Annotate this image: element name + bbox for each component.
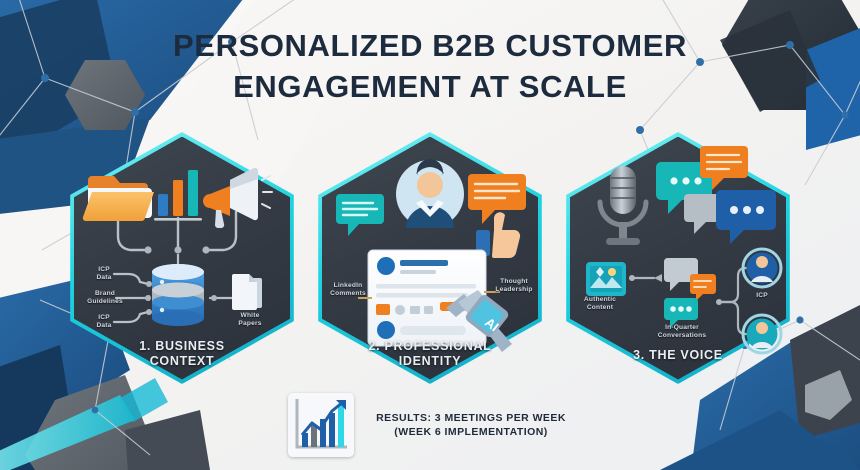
panel-label-line-1: 3. THE VOICE [633,348,723,362]
panel-label-line-1: 1. BUSINESS [139,339,225,353]
document-icon [232,274,262,310]
panel-professional-identity[interactable]: AI LinkedIn Comments Thought Leadership … [318,132,542,384]
caption-linkedin-comments: LinkedIn Comments [320,282,376,298]
caption-icp-data-bottom: ICP Data [84,314,124,330]
caption-brand-guidelines: Brand Guidelines [74,290,136,306]
user-avatar-icon [743,249,781,287]
panel-2-label: 2. PROFESSIONAL IDENTITY [318,339,542,370]
user-avatar-icon [743,315,781,353]
caption-icp-persona: ICP [742,292,782,300]
caption-icp-data-top: ICP Data [84,266,124,282]
caption-line-1: ICP [756,292,768,299]
caption-line-2: Guidelines [87,298,123,305]
results-line-1: RESULTS: 3 MEETINGS PER WEEK [376,412,566,424]
title-line-2: ENGAGEMENT AT SCALE [0,67,860,108]
caption-line-1: In-Quarter [665,324,699,331]
panel-2-content: AI LinkedIn Comments Thought Leadership … [318,132,542,384]
caption-in-quarter-conversations: In-Quarter Conversations [644,324,720,340]
caption-line-2: Data [96,322,111,329]
title-line-1: PERSONALIZED B2B CUSTOMER [173,28,687,63]
page-title: PERSONALIZED B2B CUSTOMER ENGAGEMENT AT … [0,26,860,108]
panel-label-line-2: CONTEXT [150,354,215,368]
database-icon [152,264,204,326]
caption-line-2: Leadership [495,286,532,293]
panel-1-label: 1. BUSINESS CONTEXT [70,339,294,370]
results-text: RESULTS: 3 MEETINGS PER WEEK (WEEK 6 IMP… [364,411,578,439]
caption-line-1: Authentic [584,296,616,303]
chat-cluster-icon [664,258,716,328]
growth-chart-icon [288,393,354,457]
caption-line-1: ICP [98,266,110,273]
results-line-2: (WEEK 6 IMPLEMENTATION) [364,425,578,439]
panel-label-line-2: IDENTITY [399,354,462,368]
caption-line-1: Brand [95,290,115,297]
caption-line-2: Papers [238,320,261,327]
speech-bubble-blue-icon [716,190,776,244]
folder-icon [83,176,154,221]
caption-line-1: ICP [98,314,110,321]
caption-line-2: Content [587,304,613,311]
panel-label-line-1: 2. PROFESSIONAL [368,339,491,353]
caption-white-papers: White Papers [226,312,274,328]
caption-authentic-content: Authentic Content [572,296,628,312]
panel-the-voice[interactable]: Authentic Content In-Quarter Conversatio… [566,132,790,384]
caption-line-2: Conversations [658,332,706,339]
caption-line-1: White [241,312,260,319]
bar-chart-icon [154,170,202,221]
speech-bubble-teal-icon [336,194,384,236]
the-voice-diagram [566,132,790,384]
panel-3-content: Authentic Content In-Quarter Conversatio… [566,132,790,384]
caption-line-1: Thought [500,278,528,285]
results-banner: RESULTS: 3 MEETINGS PER WEEK (WEEK 6 IMP… [288,392,578,458]
panel-business-context[interactable]: ICP Data Brand Guidelines ICP Data White… [70,132,294,384]
media-tile-icon [586,262,626,296]
avatar-icon [396,159,464,228]
panel-1-content: ICP Data Brand Guidelines ICP Data White… [70,132,294,384]
caption-thought-leadership: Thought Leadership [486,278,542,294]
caption-line-2: Comments [330,290,366,297]
megaphone-icon [203,168,272,228]
panel-3-label: 3. THE VOICE [566,348,790,364]
caption-line-1: LinkedIn [334,282,363,289]
microphone-icon [600,166,646,245]
caption-line-2: Data [96,274,111,281]
infographic-canvas: PERSONALIZED B2B CUSTOMER ENGAGEMENT AT … [0,0,860,470]
